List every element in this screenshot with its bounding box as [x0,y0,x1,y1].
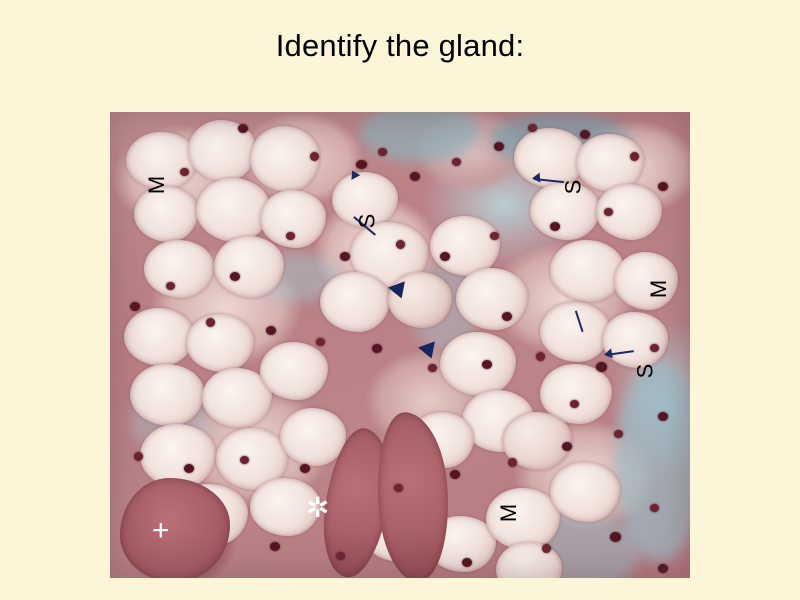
label-m-bottom: M [498,504,520,522]
nucleus [610,532,621,542]
nucleus [410,172,420,181]
acinus [320,272,390,332]
nucleus [658,412,668,421]
nucleus [378,148,387,156]
acinus [250,126,320,192]
label-m-right: M [648,280,670,298]
nucleus [134,452,143,461]
nucleus [396,240,405,249]
nucleus [270,542,280,551]
histology-micrograph: S S S M M M + ✲ [110,112,690,578]
slide: Identify the gland: [0,0,800,600]
nucleus [482,360,492,369]
acinus [576,134,644,192]
label-s-right: S [634,364,656,379]
nucleus [580,130,590,139]
acinus [134,186,198,242]
label-s-center: S [356,214,378,229]
nucleus [184,464,194,473]
nucleus [300,464,310,473]
arrow-s-topright-tip [532,173,541,184]
acinus [456,268,528,330]
nucleus [230,272,240,281]
nucleus [536,352,545,361]
nucleus [428,364,437,372]
nucleus [166,282,175,290]
acinus [260,342,328,400]
acinus [214,236,284,298]
nucleus [310,152,319,161]
nucleus [394,484,403,492]
nucleus [286,232,295,240]
nucleus [266,326,276,335]
acinus [388,272,452,328]
nucleus [336,552,345,560]
acinus [602,312,668,368]
label-s-top-right: S [562,180,584,195]
nucleus [356,160,367,169]
nucleus [340,252,350,261]
nucleus [494,142,504,151]
marker-plus: + [152,516,170,546]
acinus [130,364,204,426]
nucleus [502,312,512,321]
nucleus [206,318,215,327]
nucleus [130,302,140,311]
nucleus [658,564,668,573]
nucleus [550,222,560,231]
nucleus [238,124,248,133]
acinus [280,408,346,466]
duct-bottom-left [120,478,230,578]
nucleus [316,338,325,346]
nucleus [528,124,537,132]
acinus [144,240,214,298]
page-title: Identify the gland: [0,28,800,64]
nucleus [440,252,450,261]
nucleus [614,430,623,438]
nucleus [604,208,613,216]
nucleus [240,456,249,464]
nucleus [452,158,461,166]
nucleus [462,558,472,567]
nucleus [372,344,382,353]
acinus [430,216,500,276]
nucleus [570,400,579,408]
nucleus [508,458,517,467]
acinus [440,332,516,396]
nucleus [596,362,607,372]
nucleus [562,442,572,451]
nucleus [542,544,551,553]
nucleus [650,344,659,352]
nucleus [630,152,639,161]
label-m-top-left: M [146,176,168,194]
nucleus [658,182,668,191]
nucleus [180,168,189,176]
acinus [550,240,624,302]
marker-asterisk: ✲ [306,494,329,522]
nucleus [450,470,460,479]
nucleus [650,504,659,512]
acinus [196,178,270,242]
acinus [186,314,254,372]
arrow-s-right-tip [603,348,613,359]
nucleus [490,232,499,240]
acinus [124,308,194,366]
acinus [550,462,620,522]
